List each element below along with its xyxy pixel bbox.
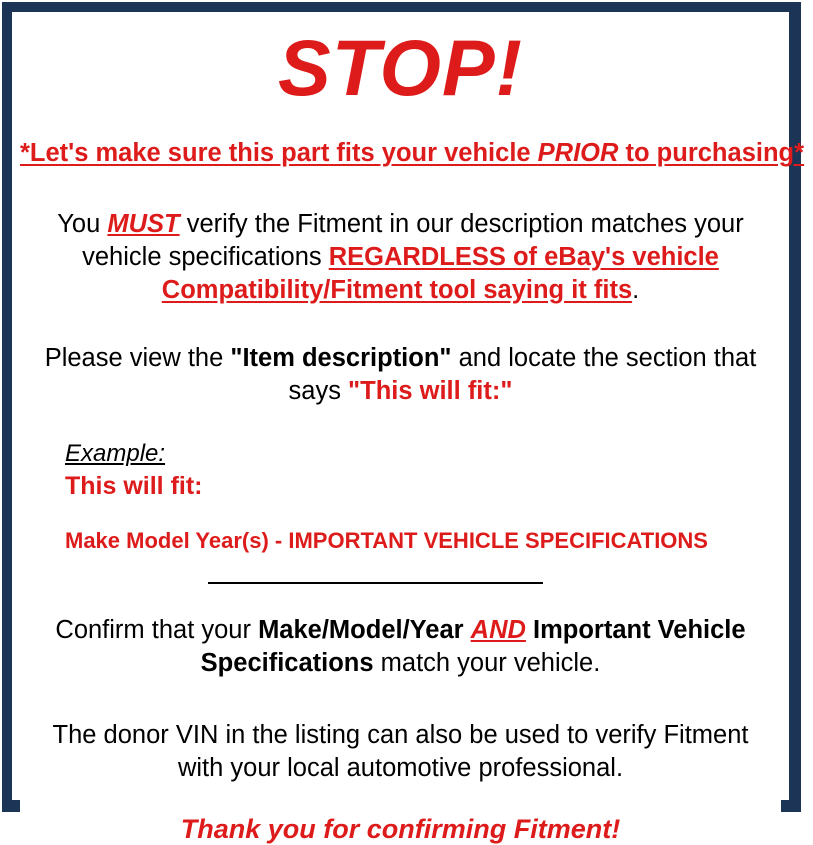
divider-wrap xyxy=(20,580,781,584)
must-emphasis: MUST xyxy=(107,210,179,238)
paragraph-must-verify: You MUST verify the Fitment in our descr… xyxy=(20,208,781,306)
example-label: Example: xyxy=(65,441,165,467)
confirm-space-1 xyxy=(464,616,471,644)
horizontal-divider xyxy=(208,582,543,584)
paragraph-donor-vin: The donor VIN in the listing can also be… xyxy=(20,719,781,784)
confirm-space-2 xyxy=(526,616,533,644)
subtitle-lead-text: *Let's make sure this part fits your veh… xyxy=(20,139,538,167)
paragraph-confirm: Confirm that your Make/Model/Year AND Im… xyxy=(20,614,781,679)
confirm-text-part1: Confirm that your xyxy=(55,616,258,644)
must-text-part3: . xyxy=(632,276,639,304)
subtitle-banner: *Let's make sure this part fits your veh… xyxy=(20,139,781,168)
notice-frame: STOP! *Let's make sure this part fits yo… xyxy=(0,0,813,814)
must-text-part1: You xyxy=(57,210,107,238)
itemdesc-text-part1: Please view the xyxy=(45,344,231,372)
thank-you-line: Thank you for confirming Fitment! xyxy=(20,814,781,845)
example-label-row: Example: xyxy=(65,441,781,467)
example-spec-line: Make Model Year(s) - IMPORTANT VEHICLE S… xyxy=(65,528,781,553)
confirm-text-part4: match your vehicle. xyxy=(374,649,601,677)
example-fit-line: This will fit: xyxy=(65,472,781,501)
and-emphasis: AND xyxy=(471,616,526,644)
notice-body: STOP! *Let's make sure this part fits yo… xyxy=(20,28,781,816)
item-description-emphasis: "Item description" xyxy=(230,344,451,372)
subtitle-emphasis-prior: PRIOR xyxy=(538,139,619,167)
make-model-year-emphasis: Make/Model/Year xyxy=(258,616,464,644)
subtitle-tail-text: to purchasing* xyxy=(618,139,804,167)
notice-border: STOP! *Let's make sure this part fits yo… xyxy=(2,2,801,812)
page-title: STOP! xyxy=(20,28,781,107)
this-will-fit-emphasis: "This will fit:" xyxy=(348,377,512,405)
paragraph-item-description: Please view the "Item description" and l… xyxy=(20,342,781,407)
example-block: Example: This will fit: Make Model Year(… xyxy=(20,441,781,552)
